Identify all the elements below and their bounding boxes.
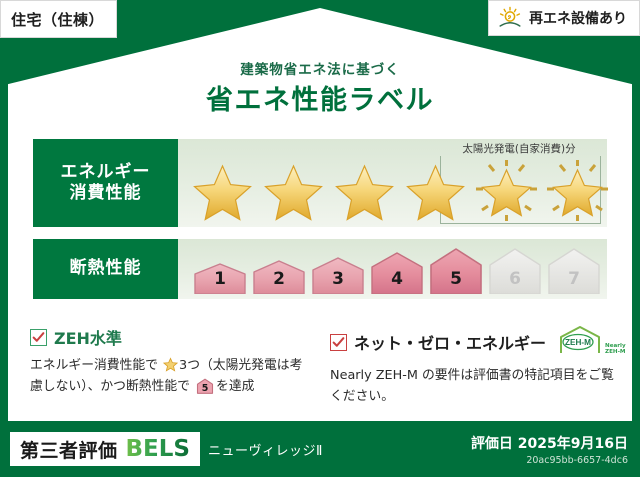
net-zero-energy-body: Nearly ZEH-M の要件は評価書の特記項目をご覧ください。	[330, 366, 620, 407]
evaluation-date: 評価日 2025年9月16日	[471, 433, 628, 453]
house-type-badge: 住宅（住棟）	[0, 0, 117, 38]
insulation-level-6: 6	[487, 246, 543, 294]
zeh-m-badge-sub2: ZEH-M	[605, 350, 626, 356]
footer: 第三者評価 BELS ニューヴィレッジⅡ 評価日 2025年9月16日 20ac…	[0, 421, 640, 477]
star-filled	[259, 158, 328, 224]
energy-consumption-body: 太陽光発電(自家消費)分	[178, 139, 607, 227]
renewable-energy-badge: 再エネ設備あり	[488, 0, 640, 36]
insulation-performance-row: 断熱性能	[33, 239, 607, 299]
page-title: 省エネ性能ラベル	[0, 78, 640, 117]
energy-performance-label: 住宅（住棟） 再エネ設備あり 建築物省エネ法に基づく 省エネ性能ラベル	[0, 0, 640, 477]
zeh-standard-body: エネルギー消費性能で 3つ（太陽光発電は考慮しない）、かつ断熱性能で 5 を達成	[30, 356, 310, 397]
star-icon	[163, 357, 178, 372]
star-filled	[188, 158, 257, 224]
bels-logo: BELS	[126, 436, 190, 462]
insulation-level-3-number: 3	[310, 269, 366, 289]
insulation-performance-body: 1 2 3 4	[178, 239, 607, 299]
energy-consumption-label-line1: エネルギー	[61, 162, 151, 183]
zeh-m-badge-house-icon: ZEH-M	[557, 325, 603, 359]
evaluation-id: 20ac95bb-6657-4dc6	[471, 455, 628, 466]
insulation-level-6-number: 6	[487, 269, 543, 289]
zeh-standard-heading: ZEH水準	[30, 325, 310, 349]
footer-evaluation-info: 評価日 2025年9月16日 20ac95bb-6657-4dc6	[471, 433, 628, 466]
energy-consumption-row: エネルギー 消費性能 太陽光発電(自家消費)分	[33, 139, 607, 227]
house-level-icon-value: 5	[196, 384, 214, 394]
zeh-standard-body-part1: エネルギー消費性能で	[30, 358, 158, 373]
star-filled	[330, 158, 399, 224]
star-solar	[472, 158, 541, 224]
insulation-performance-label: 断熱性能	[33, 239, 178, 299]
insulation-level-1: 1	[192, 261, 248, 294]
net-zero-energy-title: ネット・ゼロ・エネルギー	[354, 330, 546, 354]
renewable-energy-label: 再エネ設備あり	[529, 8, 627, 28]
insulation-level-4-number: 4	[369, 269, 425, 289]
star-solar	[543, 158, 612, 224]
star-filled	[401, 158, 470, 224]
bels-plate: 第三者評価 BELS	[10, 432, 200, 466]
energy-consumption-label: エネルギー 消費性能	[33, 139, 178, 227]
check-icon	[30, 329, 47, 346]
insulation-level-7-number: 7	[546, 269, 602, 289]
insulation-level-5-number: 5	[428, 269, 484, 289]
insulation-level-2-number: 2	[251, 269, 307, 289]
insulation-performance-label-text: 断熱性能	[70, 258, 142, 279]
insulation-level-1-number: 1	[192, 269, 248, 289]
house-level-icon: 5	[196, 378, 214, 394]
check-icon	[330, 334, 347, 351]
zeh-m-badge: ZEH-M Nearly ZEH-M	[557, 325, 626, 359]
zeh-standard-note: ZEH水準 エネルギー消費性能で 3つ（太陽光発電は考慮しない）、かつ断熱性能で…	[30, 325, 310, 397]
insulation-level-3: 3	[310, 255, 366, 294]
insulation-level-2: 2	[251, 258, 307, 294]
third-party-evaluation-label: 第三者評価	[20, 436, 118, 463]
zeh-m-badge-main: ZEH-M	[565, 338, 591, 347]
energy-consumption-label-line2: 消費性能	[70, 183, 142, 204]
insulation-level-7: 7	[546, 246, 602, 294]
insulation-level-5: 5	[428, 246, 484, 294]
zeh-standard-title: ZEH水準	[54, 325, 122, 349]
property-name: ニューヴィレッジⅡ	[208, 440, 323, 459]
star-rating	[178, 159, 607, 223]
insulation-level-4: 4	[369, 250, 425, 294]
sun-icon	[497, 6, 523, 30]
zeh-standard-body-part3: を達成	[216, 379, 254, 394]
house-type-label: 住宅（住棟）	[11, 9, 104, 30]
insulation-level-scale: 1 2 3 4	[192, 242, 599, 294]
net-zero-energy-heading: ネット・ゼロ・エネルギー ZEH-M Nearly ZEH-M	[330, 325, 620, 359]
net-zero-energy-note: ネット・ゼロ・エネルギー ZEH-M Nearly ZEH-M Nearly Z…	[330, 325, 620, 407]
label-subtitle: 建築物省エネ法に基づく	[0, 58, 640, 78]
solar-bracket-label: 太陽光発電(自家消費)分	[439, 141, 599, 156]
